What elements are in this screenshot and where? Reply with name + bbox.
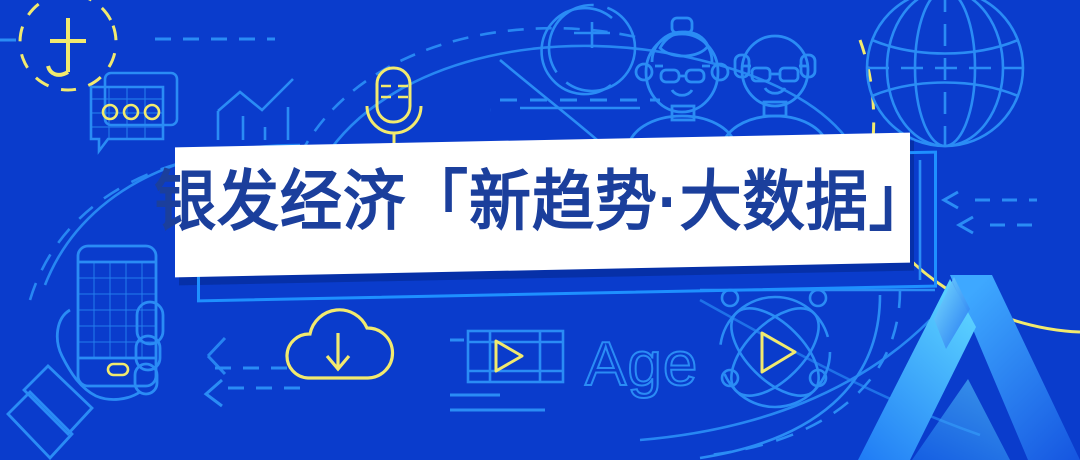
decorative-age-word: Age bbox=[585, 334, 698, 396]
silver-economy-banner: Age 银发经济「新趋势·大数据」 bbox=[0, 0, 1080, 460]
title-banner: 银发经济「新趋势·大数据」 bbox=[175, 140, 920, 285]
title-card: 银发经济「新趋势·大数据」 bbox=[175, 133, 910, 278]
page-title: 银发经济「新趋势·大数据」 bbox=[154, 170, 932, 240]
